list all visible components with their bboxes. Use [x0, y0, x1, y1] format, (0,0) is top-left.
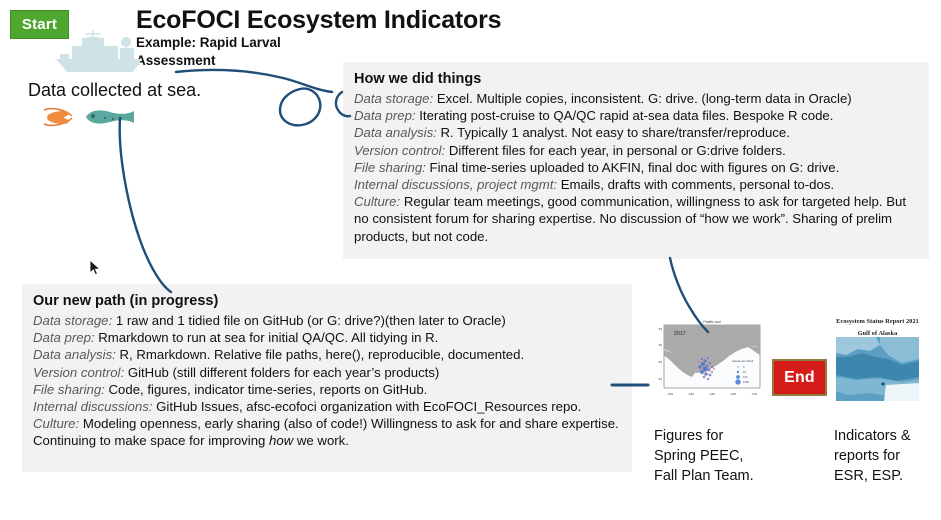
ink-arrow-critters-to-newpath: [120, 118, 171, 292]
panel-new-row: Culture: Modeling openness, early sharin…: [33, 415, 622, 449]
row-value: Regular team meetings, good communicatio…: [354, 194, 906, 243]
map-year-annotation: 2017: [674, 331, 686, 337]
row-label: File sharing:: [33, 382, 105, 397]
ship-icon: [52, 28, 154, 76]
panel-how-row: File sharing: Final time-series uploaded…: [354, 159, 919, 176]
row-value: Code, figures, indicator time-series, re…: [109, 382, 428, 397]
row-label: Culture:: [354, 194, 400, 209]
row-label: Version control:: [33, 365, 124, 380]
svg-text:55: 55: [659, 360, 663, 364]
page-subtitle: Example: Rapid Larval Assessment: [136, 34, 316, 70]
mouse-cursor-icon: [89, 259, 102, 277]
row-value: Final time-series uploaded to AKFIN, fin…: [430, 160, 840, 175]
row-value: R, Rmarkdown. Relative file paths, here(…: [120, 347, 525, 362]
panel-new-row: Internal discussions: GitHub Issues, afs…: [33, 398, 622, 415]
row-value: Different files for each year, in person…: [449, 143, 786, 158]
row-label: Data storage:: [354, 91, 433, 106]
panel-how-row: Data storage: Excel. Multiple copies, in…: [354, 90, 919, 107]
svg-text:60: 60: [659, 343, 663, 347]
panel-how-row: Data analysis: R. Typically 1 analyst. N…: [354, 124, 919, 141]
ink-loop-arrowhead: [280, 89, 320, 126]
row-label: Data analysis:: [33, 347, 116, 362]
pacific-cod-larvae-map-figure: Pacific cod 2017 6560 5550 -165-160 -155…: [648, 317, 766, 405]
row-value: Rmarkdown to run at sea for initial QA/Q…: [98, 330, 438, 345]
row-value: Emails, drafts with comments, personal t…: [561, 177, 834, 192]
panel-new-row: File sharing: Code, figures, indicator t…: [33, 381, 622, 398]
panel-our-new-path: Our new path (in progress) Data storage:…: [22, 284, 632, 472]
esr-figure-caption: Indicators & reports for ESR, ESP.: [834, 426, 934, 486]
panel-how-row: Version control: Different files for eac…: [354, 142, 919, 159]
svg-text:-165: -165: [667, 392, 673, 396]
map-legend-title: Larvae per 10m2: [732, 359, 754, 363]
row-value: GitHub Issues, afsc-ecofoci organization…: [156, 399, 581, 414]
svg-text:-160: -160: [688, 392, 694, 396]
panel-how-row: Culture: Regular team meetings, good com…: [354, 193, 919, 245]
row-label: Internal discussions, project mgmt:: [354, 177, 557, 192]
row-label: Data prep:: [33, 330, 95, 345]
sea-caption: Data collected at sea.: [28, 80, 201, 101]
panel-how-row: Data prep: Iterating post-cruise to QA/Q…: [354, 107, 919, 124]
row-label: Version control:: [354, 143, 445, 158]
row-value: Iterating post-cruise to QA/QC rapid at-…: [419, 108, 833, 123]
slide-canvas: Start EcoFOCI Ecosystem Indicators Examp…: [0, 0, 941, 520]
row-value: Modeling openness, early sharing (also o…: [33, 416, 619, 448]
svg-text:100: 100: [743, 375, 748, 379]
map-figure-caption: Figures for Spring PEEC, Fall Plan Team.: [654, 426, 764, 486]
svg-text:1000: 1000: [743, 380, 749, 384]
row-value: 1 raw and 1 tidied file on GitHub (or G:…: [116, 313, 506, 328]
panel-how-we-did-things: How we did things Data storage: Excel. M…: [343, 62, 929, 259]
row-label: File sharing:: [354, 160, 426, 175]
row-label: Data prep:: [354, 108, 416, 123]
panel-new-row: Version control: GitHub (still different…: [33, 364, 622, 381]
row-value: R. Typically 1 analyst. Not easy to shar…: [441, 125, 790, 140]
row-value: GitHub (still different folders for each…: [128, 365, 440, 380]
svg-text:65: 65: [659, 327, 663, 331]
svg-text:-150: -150: [730, 392, 736, 396]
panel-new-row: Data analysis: R, Rmarkdown. Relative fi…: [33, 346, 622, 363]
row-label: Culture:: [33, 416, 79, 431]
row-value: Excel. Multiple copies, inconsistent. G:…: [437, 91, 852, 106]
map-plot-title: Pacific cod: [703, 320, 720, 324]
page-title: EcoFOCI Ecosystem Indicators: [136, 6, 501, 35]
esr-title-line1: Ecosystem Status Report 2021: [830, 313, 925, 328]
panel-new-row: Data storage: 1 raw and 1 tidied file on…: [33, 312, 622, 329]
row-label: Internal discussions:: [33, 399, 152, 414]
end-badge[interactable]: End: [772, 359, 827, 396]
shrimp-icon: [41, 106, 77, 128]
panel-how-row: Internal discussions, project mgmt: Emai…: [354, 176, 919, 193]
svg-text:-145: -145: [751, 392, 757, 396]
panel-new-heading: Our new path (in progress): [33, 292, 622, 311]
fish-larva-icon: [84, 108, 136, 126]
row-label: Data analysis:: [354, 125, 437, 140]
svg-text:-155: -155: [709, 392, 715, 396]
svg-text:50: 50: [659, 377, 663, 381]
panel-how-heading: How we did things: [354, 70, 919, 89]
ecosystem-status-report-cover: Ecosystem Status Report 2021 Gulf of Ala…: [830, 313, 925, 405]
row-label: Data storage:: [33, 313, 112, 328]
esr-cover-map: [836, 337, 919, 401]
panel-new-row: Data prep: Rmarkdown to run at sea for i…: [33, 329, 622, 346]
